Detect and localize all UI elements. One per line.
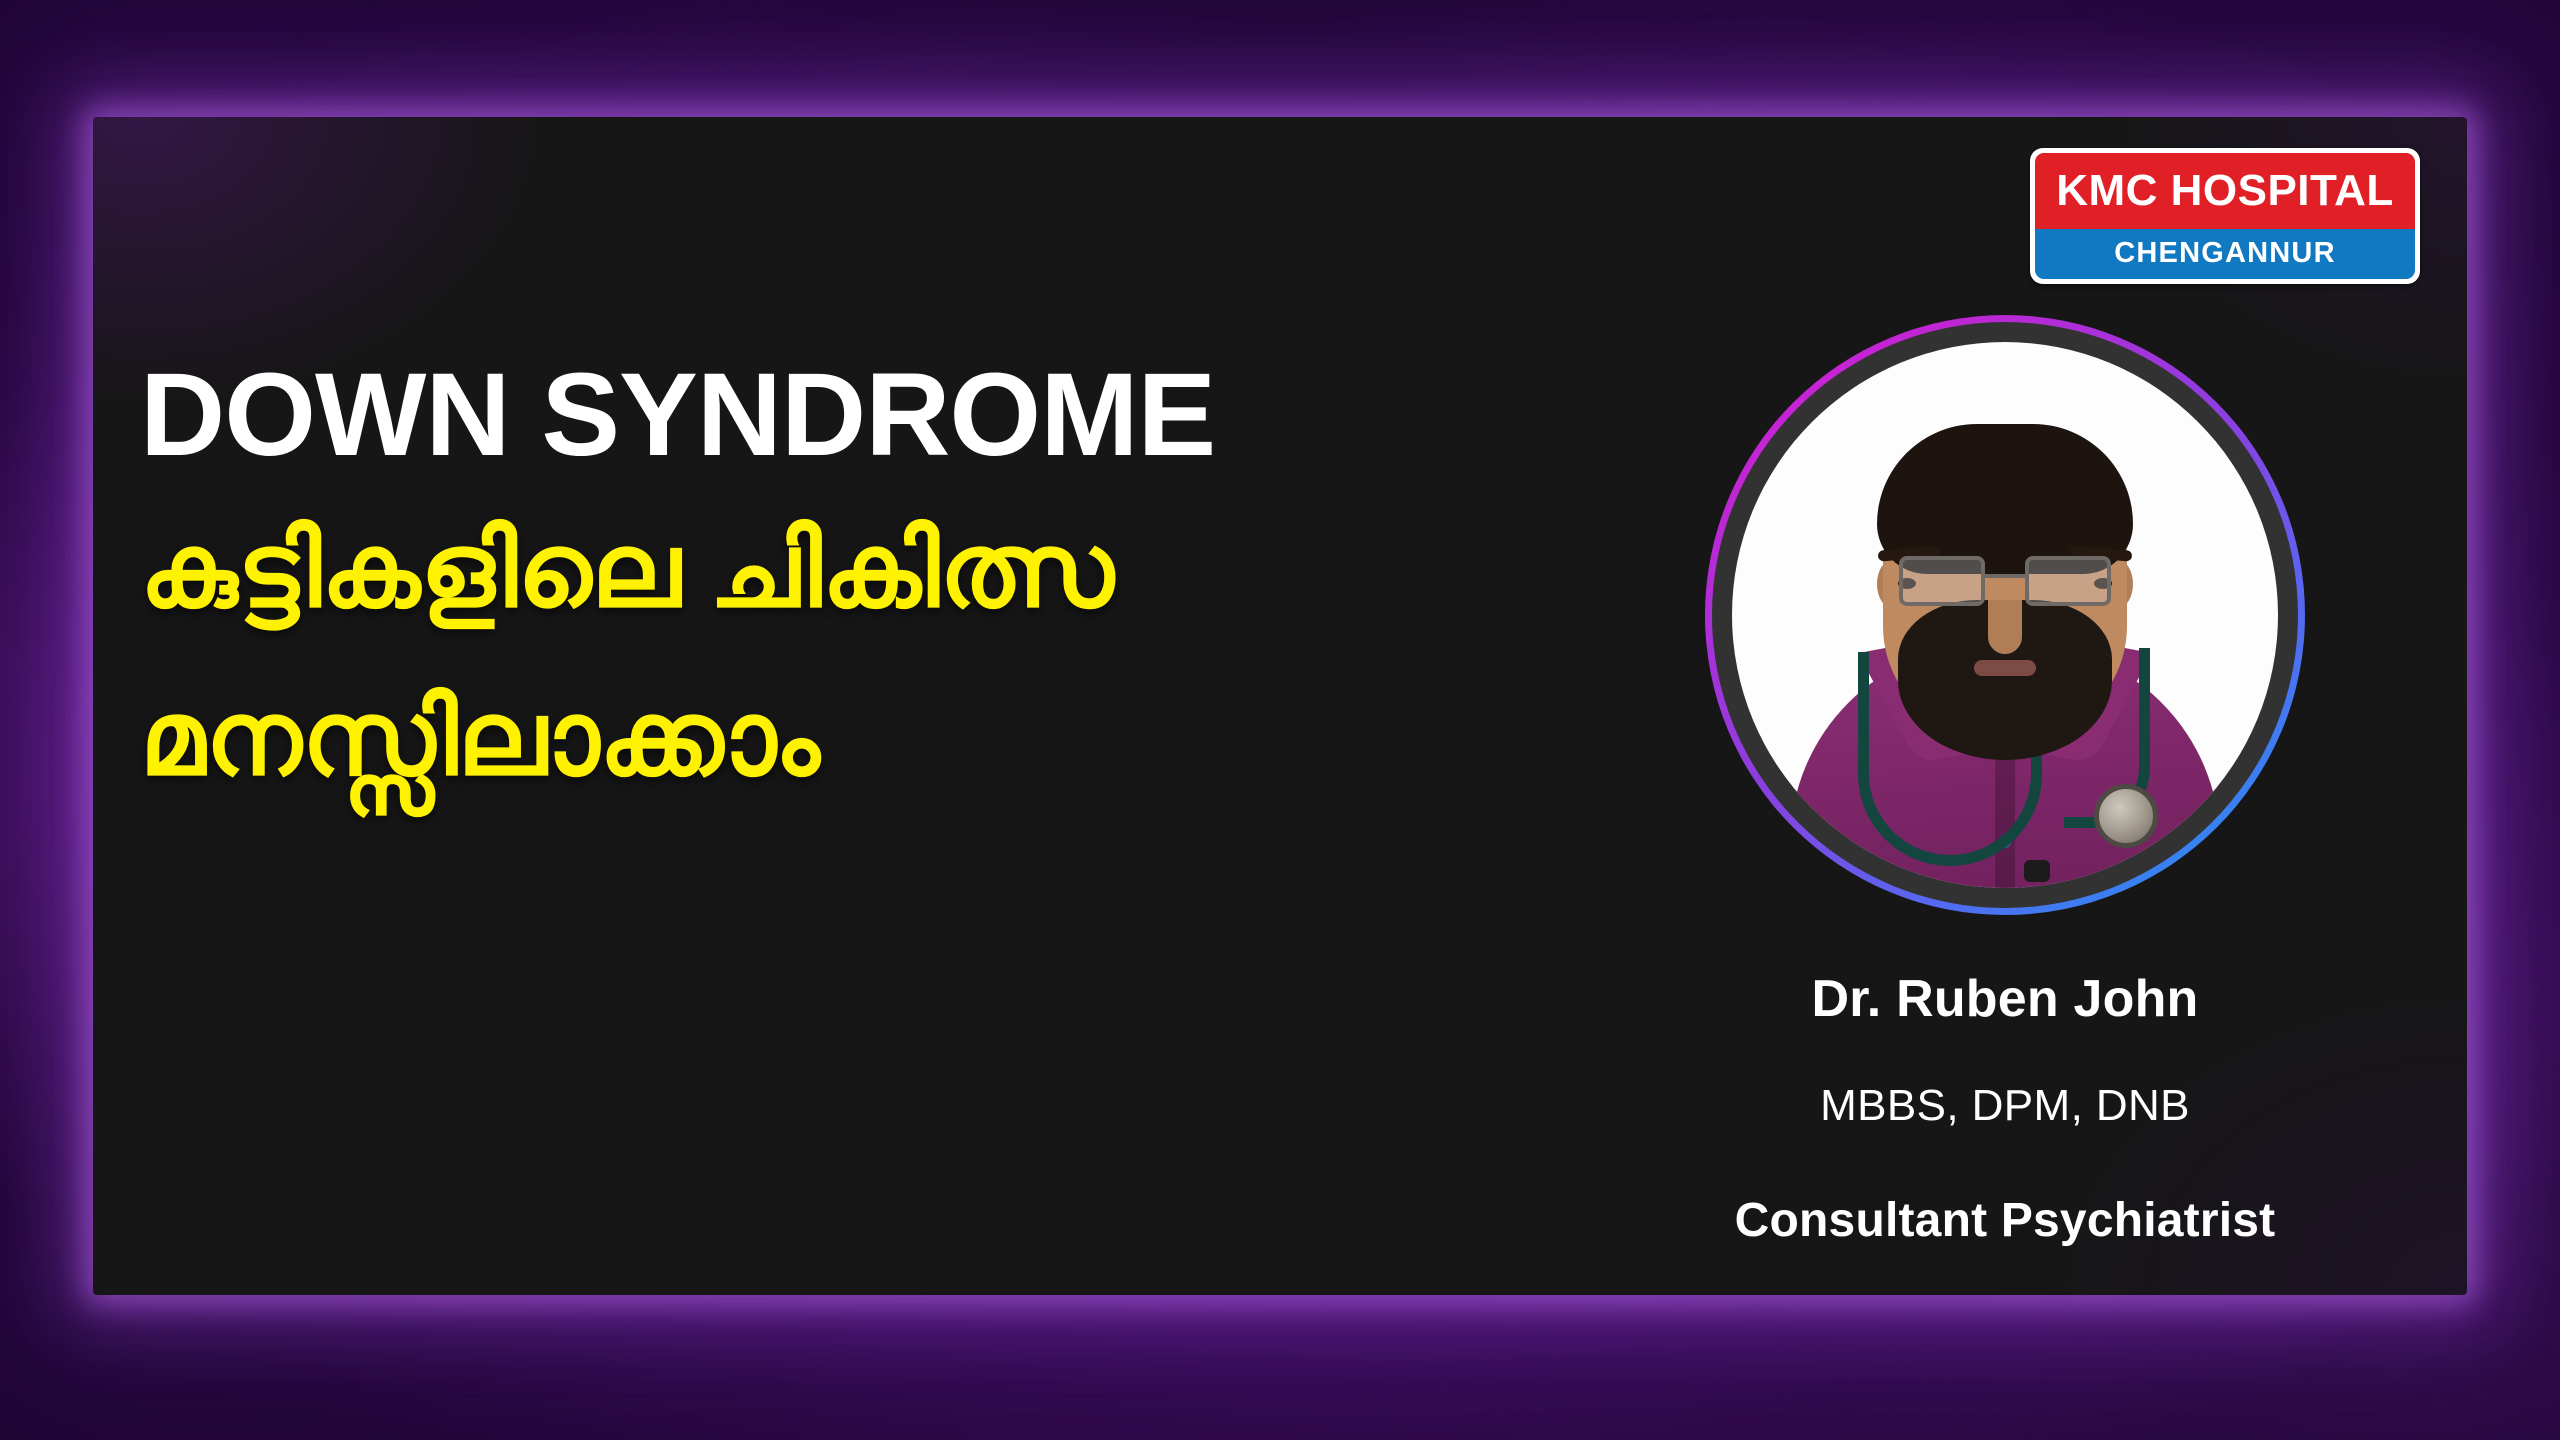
doctor-degrees: MBBS, DPM, DNB bbox=[1505, 1081, 2467, 1131]
stethoscope-tip-left bbox=[1844, 860, 1870, 882]
content-card: KMC HOSPITAL CHENGANNUR DOWN SYNDROME കു… bbox=[93, 117, 2467, 1295]
logo-location-band: CHENGANNUR bbox=[2035, 229, 2415, 279]
doctor-portrait-photo bbox=[1732, 342, 2278, 888]
logo-name-text: KMC HOSPITAL bbox=[2056, 166, 2394, 216]
doctor-portrait-ring bbox=[1705, 315, 2305, 915]
stethoscope-tip-right bbox=[2024, 860, 2050, 882]
doctor-role: Consultant Psychiatrist bbox=[1505, 1193, 2467, 1248]
portrait-pocket-item bbox=[2152, 864, 2182, 888]
glasses-lens-right bbox=[2025, 556, 2111, 606]
subtitle-line-2: മനസ്സിലാക്കാം bbox=[140, 685, 820, 794]
logo-inner: KMC HOSPITAL CHENGANNUR bbox=[2035, 153, 2415, 279]
logo-location-text: CHENGANNUR bbox=[2114, 237, 2335, 270]
logo-name-band: KMC HOSPITAL bbox=[2035, 153, 2415, 229]
subtitle-line-1: കുട്ടികളിലെ ചികിത്സ bbox=[140, 517, 1114, 626]
doctor-portrait-inner-ring bbox=[1712, 322, 2298, 908]
kmc-hospital-logo: KMC HOSPITAL CHENGANNUR bbox=[2030, 148, 2420, 284]
thumbnail-canvas: KMC HOSPITAL CHENGANNUR DOWN SYNDROME കു… bbox=[0, 0, 2560, 1440]
doctor-name: Dr. Ruben John bbox=[1505, 969, 2467, 1029]
stethoscope-chestpiece bbox=[2094, 784, 2158, 848]
headline-title: DOWN SYNDROME bbox=[140, 347, 1215, 483]
glasses-bridge bbox=[1985, 574, 2025, 578]
portrait-mouth bbox=[1974, 660, 2036, 676]
glasses-lens-left bbox=[1899, 556, 1985, 606]
portrait-glasses bbox=[1899, 556, 2111, 610]
